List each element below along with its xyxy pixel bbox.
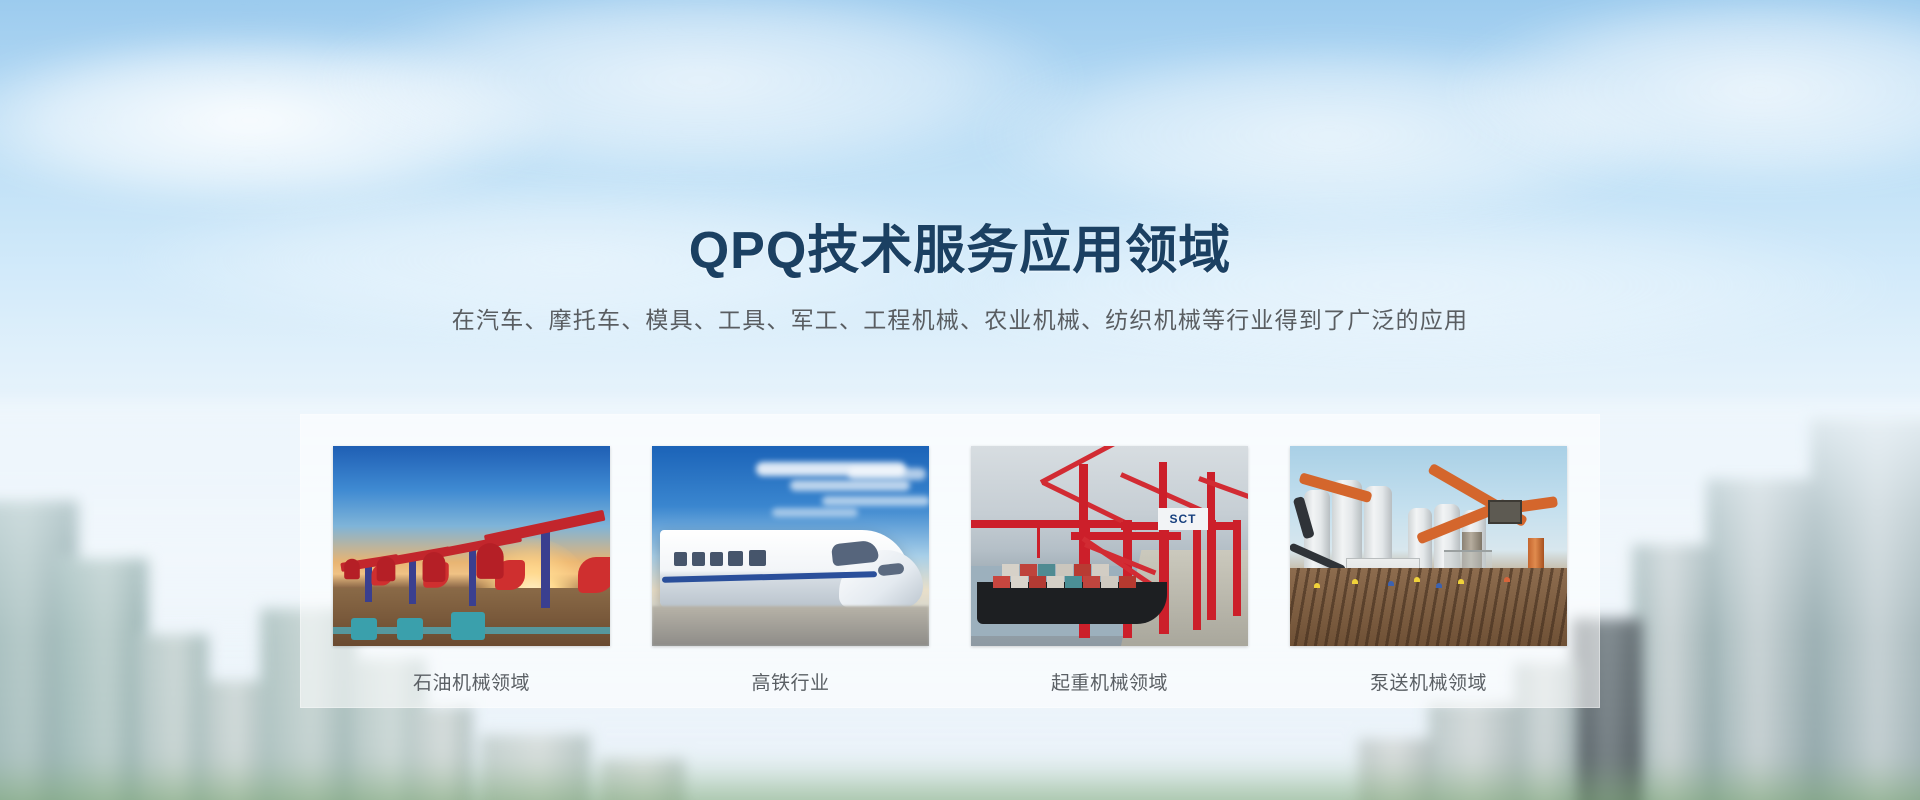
card-caption: 高铁行业	[652, 668, 929, 695]
pumpjack	[483, 522, 609, 608]
scf-logo: SCT	[1158, 508, 1208, 530]
wellhead	[351, 618, 377, 640]
control-box	[1488, 500, 1522, 524]
worker	[1388, 581, 1394, 586]
card-caption: 石油机械领域	[333, 668, 610, 695]
container-ship	[977, 582, 1167, 624]
applications-panel: 石油机械领域	[300, 414, 1600, 708]
application-card[interactable]: 高铁行业	[652, 446, 929, 708]
card-caption: 起重机械领域	[971, 668, 1248, 695]
worker	[1352, 579, 1358, 584]
worker	[1314, 583, 1320, 588]
wellhead	[451, 612, 485, 640]
application-card[interactable]: SCT 起重机械领域	[971, 446, 1248, 708]
worker	[1458, 579, 1464, 584]
worker	[1436, 583, 1442, 588]
track-motion-blur	[652, 606, 929, 646]
worker	[1504, 577, 1510, 582]
concrete-pump-site-image[interactable]	[1290, 446, 1567, 646]
card-caption: 泵送机械领域	[1290, 668, 1567, 695]
page-title: QPQ技术服务应用领域	[0, 222, 1920, 282]
hero-heading: QPQ技术服务应用领域 在汽车、摩托车、模具、工具、军工、工程机械、农业机械、纺…	[0, 222, 1920, 336]
high-speed-train-image[interactable]	[652, 446, 929, 646]
page-subtitle: 在汽车、摩托车、模具、工具、军工、工程机械、农业机械、纺织机械等行业得到了广泛的…	[0, 304, 1920, 336]
wellhead	[397, 618, 423, 640]
application-card[interactable]: 泵送机械领域	[1290, 446, 1567, 708]
port-gantry-cranes-image[interactable]: SCT	[971, 446, 1248, 646]
application-card[interactable]: 石油机械领域	[333, 446, 610, 708]
application-card-list: 石油机械领域	[300, 414, 1600, 708]
worker	[1414, 577, 1420, 582]
oil-pumpjacks-image[interactable]	[333, 446, 610, 646]
rebar-grid	[1290, 568, 1567, 646]
